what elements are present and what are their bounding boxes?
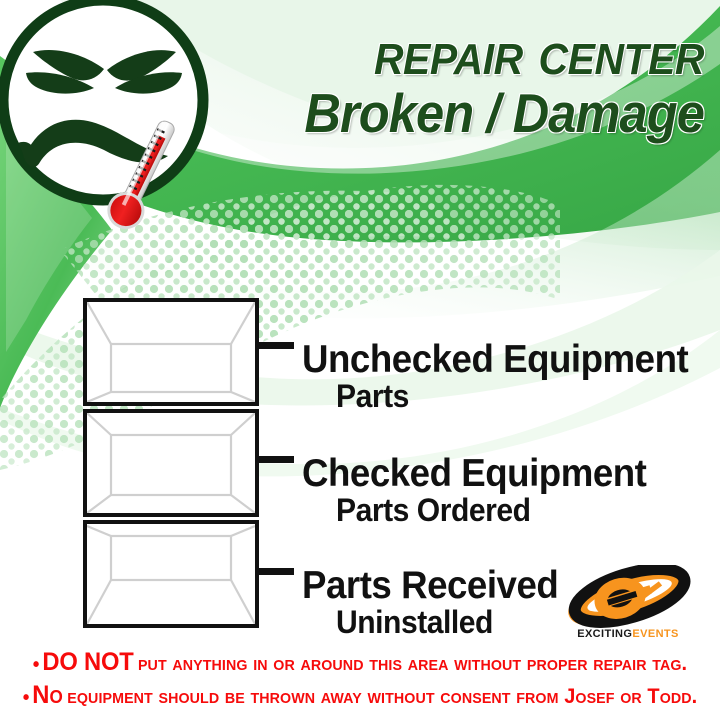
warning-rest-2: equipment should be thrown away without … bbox=[67, 685, 697, 708]
title-main-text: Repair Center bbox=[284, 24, 704, 84]
warning-rest-1: put anything in or around this area with… bbox=[138, 652, 687, 675]
warning-line-2: •No equipment should be thrown away with… bbox=[18, 679, 702, 712]
label-row-checked-equipment: Checked Equipment Parts Ordered bbox=[258, 456, 720, 525]
bin-perspective-lines bbox=[87, 524, 255, 624]
bin-parts-received[interactable] bbox=[83, 520, 259, 628]
bin-stack bbox=[83, 298, 259, 631]
label-title: Unchecked Equipment bbox=[302, 342, 695, 378]
label-row-unchecked-equipment: Unchecked Equipment Parts bbox=[258, 342, 720, 411]
bin-checked-equipment[interactable] bbox=[83, 409, 259, 517]
bullet-icon: • bbox=[23, 687, 30, 709]
leader-line-icon bbox=[258, 342, 294, 349]
leader-line-icon bbox=[258, 568, 294, 575]
exciting-events-logo: EXCITINGEVENTS bbox=[558, 565, 698, 651]
bin-perspective-lines bbox=[87, 413, 255, 513]
logo-word-events: EVENTS bbox=[632, 628, 678, 640]
footer-warnings: •DO NOT put anything in or around this a… bbox=[0, 646, 720, 712]
warning-lead-2: No bbox=[32, 681, 63, 709]
warning-lead-1: DO NOT bbox=[42, 648, 133, 676]
leader-line-icon bbox=[258, 456, 294, 463]
label-subtitle: Parts bbox=[336, 381, 697, 411]
repair-center-poster: Repair Center Broken / Damage bbox=[0, 0, 720, 720]
logo-word-exciting: EXCITING bbox=[577, 628, 632, 640]
bin-perspective-lines bbox=[87, 302, 255, 402]
logo-e-mark-icon bbox=[558, 565, 698, 629]
bin-unchecked-equipment[interactable] bbox=[83, 298, 259, 406]
label-title: Checked Equipment bbox=[302, 456, 695, 492]
logo-wordmark: EXCITINGEVENTS bbox=[558, 628, 698, 640]
page-title: Repair Center Broken / Damage bbox=[252, 24, 704, 141]
label-subtitle: Parts Ordered bbox=[336, 495, 697, 525]
warning-line-1: •DO NOT put anything in or around this a… bbox=[18, 646, 702, 679]
title-sub-text: Broken / Damage bbox=[288, 86, 704, 141]
bullet-icon: • bbox=[33, 654, 40, 676]
